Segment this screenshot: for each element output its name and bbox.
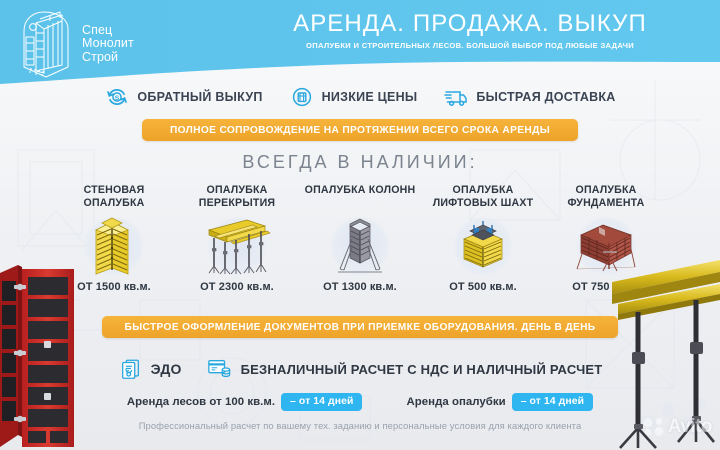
product-card-slab-formwork[interactable]: ОПАЛУБКА ПЕРЕКРЫТИЯ xyxy=(179,184,295,308)
logo-line-2: Монолит xyxy=(82,37,134,50)
slab-formwork-icon xyxy=(201,216,273,276)
product-price: ОТ 500 кв.м. xyxy=(425,281,541,293)
product-name: ОПАЛУБКА КОЛОНН xyxy=(302,184,418,210)
payment-methods-label: БЕЗНАЛИЧНЫЙ РАСЧЕТ С НДС И НАЛИЧНЫЙ РАСЧ… xyxy=(241,362,603,377)
feature-buyback[interactable]: S ОБРАТНЫЙ ВЫКУП xyxy=(104,85,262,109)
buyback-arrows-icon: S xyxy=(104,85,130,109)
product-card-column-formwork[interactable]: ОПАЛУБКА КОЛОНН xyxy=(302,184,418,308)
feature-label: НИЗКИЕ ЦЕНЫ xyxy=(322,90,418,104)
term-badge[interactable]: – от 14 дней xyxy=(512,393,593,411)
logo-line-1: Спец xyxy=(82,24,134,37)
product-card-shaft-formwork[interactable]: ОПАЛУБКА ЛИФТОВЫХ ШАХТ xyxy=(425,184,541,308)
product-name: ОПАЛУБКА ПЕРЕКРЫТИЯ xyxy=(179,184,295,210)
product-name: ОПАЛУБКА ЛИФТОВЫХ ШАХТ xyxy=(425,184,541,210)
product-name: ОПАЛУБКА ФУНДАМЕНТА xyxy=(548,184,664,210)
invoice-coins-icon xyxy=(204,357,234,381)
column-formwork-icon xyxy=(332,215,388,277)
page-title: АРЕНДА. ПРОДАЖА. ВЫКУП xyxy=(230,10,710,38)
product-name: СТЕНОВАЯ ОПАЛУБКА xyxy=(56,184,172,210)
svg-text:S: S xyxy=(115,95,120,102)
page-subtitle: ОПАЛУБКИ И СТРОИТЕЛЬНЫХ ЛЕСОВ. БОЛЬШОЙ В… xyxy=(230,41,710,51)
building-crane-logo-icon xyxy=(18,9,76,79)
term-formwork-rental: Аренда опалубки – от 14 дней xyxy=(406,393,593,411)
payment-methods[interactable]: БЕЗНАЛИЧНЫЙ РАСЧЕТ С НДС И НАЛИЧНЫЙ РАСЧ… xyxy=(204,357,603,381)
red-wall-formwork-panel-photo xyxy=(0,265,96,450)
payment-edo-label: ЭДО xyxy=(151,361,182,377)
term-scaffold-rental: Аренда лесов от 100 кв.м. – от 14 дней xyxy=(127,393,363,411)
product-image xyxy=(425,213,541,279)
logo-wordmark: Спец Монолит Строй xyxy=(82,24,134,64)
header: Спец Монолит Строй АРЕНДА. ПРОДАЖА. ВЫКУ… xyxy=(0,0,720,84)
payment-edo[interactable]: ЭДО xyxy=(118,357,182,381)
feature-row: S ОБРАТНЫЙ ВЫКУП НИЗКИЕ ЦЕНЫ xyxy=(0,80,720,114)
feature-low-prices[interactable]: НИЗКИЕ ЦЕНЫ xyxy=(289,85,418,109)
feature-fast-delivery[interactable]: БЫСТРАЯ ДОСТАВКА xyxy=(443,85,615,109)
product-image xyxy=(302,213,418,279)
product-price: ОТ 1300 кв.м. xyxy=(302,281,418,293)
avito-watermark: Avito xyxy=(643,416,712,438)
term-text: Аренда опалубки xyxy=(406,396,505,408)
shaft-formwork-icon xyxy=(452,215,514,277)
banner-fast-documents[interactable]: БЫСТРОЕ ОФОРМЛЕНИЕ ДОКУМЕНТОВ ПРИ ПРИЕМК… xyxy=(102,316,618,338)
catalog-title: ВСЕГДА В НАЛИЧИИ: xyxy=(0,152,720,173)
avito-watermark-text: Avito xyxy=(668,416,712,438)
product-image xyxy=(179,213,295,279)
feature-label: БЫСТРАЯ ДОСТАВКА xyxy=(476,90,615,104)
catalog-grid: СТЕНОВАЯ ОПАЛУБКА xyxy=(56,184,664,308)
delivery-truck-icon xyxy=(443,85,469,109)
poster-canvas: Спец Монолит Строй АРЕНДА. ПРОДАЖА. ВЫКУ… xyxy=(0,0,720,450)
term-text: Аренда лесов от 100 кв.м. xyxy=(127,396,275,408)
banner-full-support[interactable]: ПОЛНОЕ СОПРОВОЖДЕНИЕ НА ПРОТЯЖЕНИИ ВСЕГО… xyxy=(142,119,578,141)
low-price-tag-icon xyxy=(289,85,315,109)
edo-document-icon xyxy=(118,357,144,381)
product-price: ОТ 2300 кв.м. xyxy=(179,281,295,293)
avito-logo-icon xyxy=(643,417,665,437)
header-text-block: АРЕНДА. ПРОДАЖА. ВЫКУП ОПАЛУБКИ И СТРОИТ… xyxy=(230,10,710,51)
logo[interactable]: Спец Монолит Строй xyxy=(18,8,158,80)
feature-label: ОБРАТНЫЙ ВЫКУП xyxy=(137,90,262,104)
logo-line-3: Строй xyxy=(82,51,134,64)
term-badge[interactable]: – от 14 дней xyxy=(281,393,362,411)
